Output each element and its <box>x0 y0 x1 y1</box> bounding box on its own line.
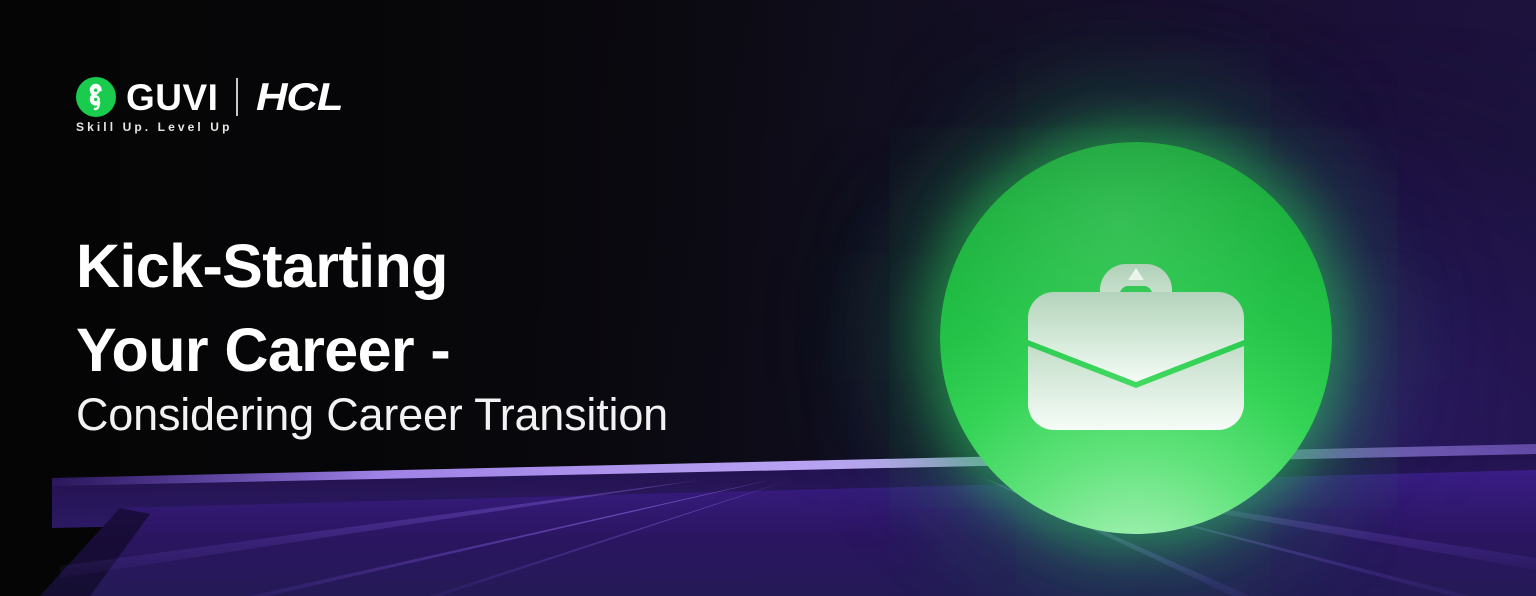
headline: Kick-Starting Your Career - <box>76 224 450 392</box>
logo-divider <box>236 78 238 116</box>
guvi-g-glyph <box>84 83 108 111</box>
subheadline: Considering Career Transition <box>76 389 668 441</box>
brand-tagline: Skill Up. Level Up <box>76 120 233 134</box>
promo-banner: GUVI HCL Skill Up. Level Up Kick-Startin… <box>0 0 1536 596</box>
guvi-wordmark: GUVI <box>126 79 218 116</box>
briefcase-icon <box>1014 232 1258 444</box>
guvi-mark-icon <box>76 77 116 117</box>
briefcase-svg <box>1014 232 1258 444</box>
brand-logo: GUVI HCL <box>76 74 334 120</box>
hcl-wordmark: HCL <box>256 78 342 117</box>
